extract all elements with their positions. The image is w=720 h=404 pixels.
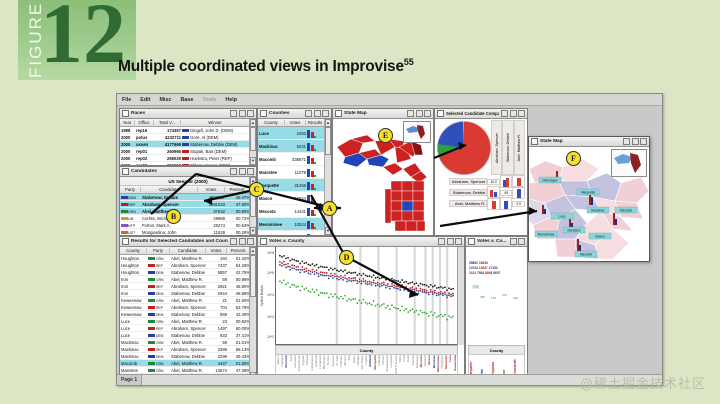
scatter2-green-point: 133 (491, 296, 496, 300)
figure-caption-text: Multiple coordinated views in Improvise (118, 58, 404, 75)
cell-county: Iron (120, 277, 147, 282)
races-col-office[interactable]: Office (135, 120, 154, 125)
matrix-col-stabenow[interactable]: Stabenow, Debbie (506, 133, 510, 162)
cell-party: DEM (147, 270, 170, 275)
data-label: 17152 (489, 266, 498, 270)
cell-votes: 11628 (198, 230, 225, 235)
party-swatch (121, 217, 128, 221)
cell-votes: 31266 (285, 183, 306, 188)
close-icon[interactable] (455, 238, 462, 245)
scroll-up-icon[interactable]: ▲ (325, 119, 331, 127)
cell-party: REP (147, 305, 170, 310)
candidates-col-candidate[interactable]: Candidate (141, 187, 198, 192)
cell-candidate: Stabenow, Debbie (170, 312, 206, 317)
cell-county: Mackinac (120, 340, 147, 345)
cell-candidate: Abraham, Spencer (170, 305, 206, 310)
cell-county: Mason (258, 196, 285, 201)
callout-badge-e: E (378, 128, 393, 143)
cell-votes: 29968 (198, 216, 225, 221)
callout-badge-d: D (339, 250, 354, 265)
panel-votes-v-county[interactable]: Votes v. County Spilled Ballots 10^6 10^… (257, 236, 465, 381)
cell-results-bars (306, 167, 325, 178)
menu-item-base[interactable]: Base (180, 97, 193, 103)
minimize-icon[interactable] (230, 238, 237, 245)
table-row[interactable]: REP Abraham, Spencer 1991033 47.90% (120, 201, 256, 208)
cell-votes: 1497 (206, 326, 227, 331)
window-menu-icon[interactable] (531, 138, 538, 145)
cell-party: DEM (147, 312, 170, 317)
candidate-share-pie-chart[interactable] (437, 121, 491, 175)
cell-party: GRN (147, 368, 170, 373)
races-col-votes[interactable]: Total V... (154, 120, 181, 125)
minimize-icon[interactable] (230, 168, 237, 175)
maximize-icon[interactable] (239, 168, 246, 175)
cell-county: Mackinac (258, 144, 285, 149)
cell-candidate: Stabenow, Debbie (170, 354, 206, 359)
cell-percent: 37.41% (227, 333, 250, 338)
maximize-icon[interactable] (510, 110, 517, 117)
party-swatch (148, 299, 155, 303)
cell-winner: Gore, Al (DEM) (190, 135, 218, 140)
cell-county: Luce (120, 319, 147, 324)
matrix-cell-bars (500, 197, 513, 210)
minimize-icon[interactable] (623, 138, 630, 145)
cell-percent: 42.75% (227, 270, 250, 275)
panel-results-body: County Party Candidate Votes Percent Hou… (120, 247, 256, 380)
scatter-plot-area[interactable]: Spilled Ballots 10^6 10^5 10^4 10^3 10^2 (258, 247, 464, 345)
table-row[interactable]: 2000 rep01 260965 Stupak, Bart (DEM) (120, 148, 256, 155)
party-swatch (148, 271, 155, 275)
cell-percent: 43.39% (227, 312, 250, 317)
panel-comparison-body: Abraham, Spencer Stabenow, Debbie Abel, … (435, 119, 527, 235)
cell-party: REP (147, 263, 170, 268)
cell-percent: 39.43% (227, 354, 250, 359)
cell-party: GRN (128, 210, 136, 214)
close-icon[interactable] (322, 110, 329, 117)
cell-percent: 01.60% (227, 298, 250, 303)
cell-year: 2000 (120, 142, 135, 147)
cell-votes: 933 (206, 333, 227, 338)
maximize-icon[interactable] (239, 238, 246, 245)
panel-races-titlebar[interactable]: Races (120, 109, 256, 119)
table-row[interactable]: Mackinac DEMStabenow, Debbie229839.43% (120, 353, 256, 360)
table-row[interactable]: Keweenaw REPAbraham, Spencer70453.78% (120, 304, 256, 311)
cell-votes: 269029 (154, 156, 181, 161)
panel-results[interactable]: Results for Selected Candidates and Coun… (119, 236, 257, 381)
cell-votes: 14431 (285, 209, 306, 214)
party-swatch (121, 196, 128, 200)
cell-county: Iron (120, 284, 147, 289)
table-row[interactable]: Macomb338871 (258, 153, 331, 166)
x-tick-label[interactable]: Luce (448, 355, 452, 362)
cell-votes: 262653 (154, 163, 181, 166)
cell-party: GRN (147, 256, 170, 261)
cell-winner: Stupak, Bart (DEM) (190, 149, 226, 154)
michigan-outline-icon (404, 122, 430, 142)
cell-percent: 47.38% (227, 368, 250, 373)
window-menu-icon[interactable] (335, 110, 342, 117)
cell-county: Houghton (120, 263, 147, 268)
panel-scatter-window-buttons[interactable] (438, 238, 462, 245)
minimize-icon[interactable] (407, 110, 414, 117)
close-icon[interactable] (518, 110, 525, 117)
cell-votes: 59 (206, 277, 227, 282)
table-row[interactable]: GRN Abel, Matthew R. 37542 00.90% (120, 208, 256, 215)
races-col-year[interactable]: Year (120, 120, 135, 125)
cell-candidate: Abraham, Spencer (170, 347, 206, 352)
table-row[interactable]: Houghton GRNAbel, Matthew R.19401.42% (120, 255, 256, 262)
panel-state-map-f-window-buttons[interactable] (623, 138, 647, 145)
scroll-up-icon[interactable]: ▲ (250, 119, 256, 127)
cell-percent: 53.78% (227, 305, 250, 310)
panel-counties-title: Counties (269, 111, 303, 116)
x-tick-label[interactable]: Macomb (284, 355, 288, 368)
results-col-party[interactable]: Party (147, 248, 170, 253)
table-row[interactable]: Luce REPAbraham, Spencer149760.00% (120, 325, 256, 332)
cell-votes: 4447 (206, 361, 227, 366)
close-icon[interactable] (247, 238, 254, 245)
cell-office: ussen (135, 142, 154, 147)
window-menu-icon[interactable] (122, 110, 129, 117)
cell-county: Macomb (120, 361, 147, 366)
window-menu-icon[interactable] (260, 238, 267, 245)
races-col-winner[interactable]: Winner (181, 120, 250, 125)
table-row[interactable]: Mecosta14431 (258, 205, 331, 218)
scatter2-green-label: 773 (472, 285, 479, 289)
table-row[interactable]: UST Mongiardino, John 11628 00.28% (120, 229, 256, 235)
cell-candidate: Stabenow, Debbie (141, 195, 198, 200)
maximize-icon[interactable] (632, 138, 639, 145)
cell-year: 1998 (120, 128, 135, 133)
x-tick-label[interactable]: Cass (406, 355, 410, 362)
counties-col-results[interactable]: Results (306, 120, 325, 125)
minimize-icon[interactable] (510, 238, 517, 245)
cell-votes: 23 (206, 319, 227, 324)
panel-scatter-titlebar[interactable]: Votes v. County (258, 237, 464, 247)
cell-party: REP (147, 347, 170, 352)
cell-office: rep16 (135, 128, 154, 133)
cell-results-bars (306, 219, 325, 230)
cell-winner: Hoekstra, Peter (REP) (190, 156, 232, 161)
close-icon[interactable] (424, 110, 431, 117)
panel-state-map-e-titlebar[interactable]: State Map (333, 109, 433, 119)
results-col-percent[interactable]: Percent (227, 248, 250, 253)
minimize-icon[interactable] (438, 238, 445, 245)
callout-badge-f: F (566, 151, 581, 166)
table-row[interactable]: DEM Stabenow, Debbie 1998017 49.47% (120, 194, 256, 201)
party-swatch (148, 306, 155, 310)
minimize-icon[interactable] (305, 110, 312, 117)
x-tick-label[interactable]: Berrien (326, 355, 330, 365)
window-menu-icon[interactable] (122, 168, 129, 175)
candidates-col-percent[interactable]: Percent (225, 187, 250, 192)
panel-votes-v-county-detail[interactable]: Votes v. Co... 2966216838170241408717152… (465, 236, 528, 381)
cell-percent: 49.47% (225, 195, 250, 200)
cell-candidate: Abel, Matthew R. (170, 277, 206, 282)
panel-state-map-f-body[interactable]: OntonagonMarquetteMackinacLuceMenomineeM… (529, 147, 649, 261)
panel-counties-window-buttons[interactable] (305, 110, 329, 117)
cell-party: GRN (147, 361, 170, 366)
scrollbar-thumb[interactable] (325, 127, 331, 155)
cell-candidate: Stabenow, Debbie (170, 333, 206, 338)
maximize-icon[interactable] (314, 110, 321, 117)
watermark: @稀土掘金技术社区 (580, 373, 706, 392)
table-row[interactable]: Houghton DEMStabenow, Debbie585742.75% (120, 269, 256, 276)
table-row[interactable]: 2000 potus 4232711 Gore, Al (DEM) (120, 134, 256, 141)
cell-party: GRN (147, 340, 170, 345)
candidates-race-subtitle: US Senator (2000) (120, 177, 256, 186)
party-swatch (121, 203, 128, 207)
matrix-row-label-stabenow: Stabenow, Debbie (449, 189, 487, 196)
cell-percent: 00.98% (227, 277, 250, 282)
table-row[interactable]: Luce GRNAbel, Matthew R.2300.92% (120, 318, 256, 325)
cell-votes: 260965 (154, 149, 181, 154)
panel-state-map-f-title: State Map (540, 139, 621, 144)
table-row[interactable]: Manistee GRNAbel, Matthew R.1367447.38% (120, 367, 256, 374)
svg-text:Menominee: Menominee (538, 232, 555, 236)
panel-state-map-e-window-buttons[interactable] (407, 110, 431, 117)
panel-results-window-buttons[interactable] (230, 238, 254, 245)
callout-badge-c: C (249, 182, 264, 197)
table-row[interactable]: Mackinac REPAbraham, Spencer338858.13% (120, 346, 256, 353)
window-menu-icon[interactable] (437, 110, 444, 117)
matrix-col-abraham[interactable]: Abraham, Spencer (495, 133, 499, 163)
cell-candidate: Stabenow, Debbie (170, 270, 206, 275)
panel-state-map-e-title: State Map (344, 111, 405, 116)
party-swatch (148, 334, 155, 338)
window-menu-icon[interactable] (122, 238, 129, 245)
cell-results-bars (306, 141, 325, 152)
cell-party: GRN (147, 277, 170, 282)
table-row[interactable]: Houghton REPAbraham, Spencer743754.28% (120, 262, 256, 269)
results-col-candidate[interactable]: Candidate (170, 248, 206, 253)
panel-candidates-titlebar[interactable]: Candidates (120, 167, 256, 177)
candidates-col-votes[interactable]: Votes (198, 187, 225, 192)
panel-results-titlebar[interactable]: Results for Selected Candidates and Coun… (120, 237, 256, 247)
panel-scatter2-title: Votes v. Co... (477, 239, 508, 244)
data-label: 16838 (479, 261, 488, 265)
cell-votes: 36719 (285, 235, 306, 236)
party-swatch (121, 210, 128, 214)
cell-party: UST (128, 231, 135, 235)
table-row[interactable]: Menominee10524 (258, 218, 331, 231)
panel-comparison-title: Selected Candidate Comparison (446, 111, 499, 116)
table-row[interactable]: Iron DEMStabenow, Debbie294448.88% (120, 290, 256, 297)
cell-votes: 5231 (285, 144, 306, 149)
svg-text:Luce: Luce (559, 214, 566, 218)
scatter2-plot-area[interactable]: 2966216838170241408717152241379348848660… (466, 247, 527, 345)
michigan-outline-icon (612, 150, 646, 176)
party-swatch (148, 369, 155, 373)
cell-county: Mackinac (120, 354, 147, 359)
table-row[interactable]: 2000 rep03 262653 Ehlers, Vernon (REP) (120, 162, 256, 165)
cell-votes: 194 (206, 256, 227, 261)
x-tick-label[interactable]: Mason (427, 355, 431, 365)
cell-year: 2000 (120, 156, 135, 161)
matrix-row[interactable]: Abel, Matthew R. 0.9 (449, 198, 525, 209)
panel-results-title: Results for Selected Candidates and Coun… (131, 239, 228, 244)
cell-votes: 7437 (206, 263, 227, 268)
panel-state-map-f-titlebar[interactable]: State Map (529, 137, 649, 147)
table-row[interactable]: Midland36719 (258, 231, 331, 235)
table-row[interactable]: Macomb GRNAbel, Matthew R.444701.50% (120, 360, 256, 367)
cell-office: rep01 (135, 149, 154, 154)
table-row[interactable]: Marquette31266 (258, 179, 331, 192)
matrix-cell-bars (487, 197, 500, 210)
close-icon[interactable] (518, 238, 525, 245)
cell-votes: 1998017 (198, 195, 225, 200)
panel-comparison-window-buttons[interactable] (501, 110, 525, 117)
panel-races-title: Races (131, 111, 228, 116)
data-label: 6607 (493, 271, 500, 275)
cell-percent: 60.00% (227, 326, 250, 331)
svg-text:Mackinac: Mackinac (591, 208, 605, 212)
scroll-down-icon[interactable]: ▼ (250, 157, 256, 165)
results-col-county[interactable]: County (120, 248, 147, 253)
cell-winner: Ehlers, Vernon (REP) (190, 163, 230, 166)
menu-item-file[interactable]: File (122, 97, 131, 103)
panel-scatter-title: Votes v. County (269, 239, 436, 244)
window-menu-icon[interactable] (468, 238, 475, 245)
map-overview-inset[interactable] (403, 121, 431, 143)
x-tick-label[interactable]: Ottawa (305, 355, 309, 365)
data-label: 2413 (469, 271, 476, 275)
scatter-canvas[interactable] (275, 247, 457, 345)
page-title: Multiple coordinated views in Improvise5… (118, 57, 414, 76)
cell-percent: 01.01% (227, 340, 250, 345)
cell-votes: 2944 (206, 291, 227, 296)
cell-candidate: Abel, Matthew R. (170, 340, 206, 345)
scatter-y-axis-title: Spilled Ballots (258, 247, 266, 345)
panel-state-map-f[interactable]: State Map (528, 136, 650, 262)
cell-year: 2000 (120, 149, 135, 154)
table-row[interactable]: Keweenaw DEMStabenow, Debbie56943.39% (120, 311, 256, 318)
map-overview-inset[interactable] (611, 149, 647, 177)
counties-col-county[interactable]: County (258, 120, 285, 125)
x-tick-label[interactable]: Keweenaw (453, 355, 457, 371)
party-swatch (148, 320, 155, 324)
scatter-vertical-scrollbar[interactable] (457, 247, 464, 345)
counties-col-votes[interactable]: Votes (285, 120, 306, 125)
cell-percent: 01.50% (227, 361, 250, 366)
close-icon[interactable] (247, 168, 254, 175)
cell-party: NTP (128, 224, 135, 228)
table-row[interactable]: Iron GRNAbel, Matthew R.5900.98% (120, 276, 256, 283)
table-row[interactable]: Mackinac5231 (258, 140, 331, 153)
cell-votes: 569 (206, 312, 227, 317)
matrix-cell-bars (512, 186, 525, 199)
party-swatch (148, 285, 155, 289)
scrollbar-thumb[interactable] (250, 255, 256, 297)
table-row[interactable]: Iron REPAbraham, Spencer292148.90% (120, 283, 256, 290)
panel-selected-candidate-comparison[interactable]: Selected Candidate Comparison (434, 108, 528, 236)
scroll-down-icon[interactable]: ▼ (250, 227, 256, 235)
table-row[interactable]: Luce2493 (258, 127, 331, 140)
panel-counties-titlebar[interactable]: Counties (258, 109, 331, 119)
table-row[interactable]: Luce DEMStabenow, Debbie93337.41% (120, 332, 256, 339)
party-swatch (121, 231, 128, 235)
party-swatch (182, 150, 189, 154)
counties-vertical-scrollbar[interactable]: ▲ ▼ (324, 119, 331, 235)
results-grid: Houghton GRNAbel, Matthew R.19401.42%Hou… (120, 255, 256, 380)
table-row[interactable]: Manistee11078 (258, 166, 331, 179)
party-swatch (182, 157, 189, 161)
cell-county: Houghton (120, 256, 147, 261)
menu-item-misc[interactable]: Misc (159, 97, 171, 103)
panel-scatter2-window-buttons[interactable] (510, 238, 526, 245)
races-grid: 1998 rep16 174367 Dingell, John D. (DEM)… (120, 127, 256, 165)
menu-item-edit[interactable]: Edit (140, 97, 150, 103)
comparison-matrix-rows: Abraham, Spencer 10.0 Stabenow, Debbie (449, 176, 525, 209)
cell-party: GRN (147, 319, 170, 324)
cell-county: Luce (258, 131, 285, 136)
races-column-headers: Year Office Total V... Winner (120, 119, 256, 127)
cell-candidate: Mongiardino, John (141, 230, 198, 235)
close-icon[interactable] (247, 110, 254, 117)
party-swatch (148, 348, 155, 352)
scroll-down-icon[interactable]: ▼ (325, 227, 331, 235)
results-col-votes[interactable]: Votes (206, 248, 227, 253)
table-row[interactable]: Mason12844 (258, 192, 331, 205)
data-label: 7934 (477, 271, 484, 275)
cell-county: Macomb (258, 157, 285, 162)
cell-votes: 704 (206, 305, 227, 310)
cell-percent: 54.28% (227, 263, 250, 268)
panel-races-window-buttons[interactable] (230, 110, 254, 117)
cell-office: potus (135, 135, 154, 140)
panel-races[interactable]: Races Year Office Total V... Winner 1998… (119, 108, 257, 166)
maximize-icon[interactable] (416, 110, 423, 117)
table-row[interactable]: 1998 rep16 174367 Dingell, John D. (DEM) (120, 127, 256, 134)
panel-candidates-window-buttons[interactable] (230, 168, 254, 175)
cell-candidate: Abel, Matthew R. (170, 256, 206, 261)
table-row[interactable]: NTP Forton, Mark A. 26274 00.63% (120, 222, 256, 229)
cell-county: Menominee (258, 222, 285, 227)
table-row[interactable]: 2000 ussen 4177669 Stabenow, Debbie (DEM… (120, 141, 256, 148)
close-icon[interactable] (640, 138, 647, 145)
scatter2-data-labels: 2966216838170241408717152241379348848660… (469, 261, 525, 276)
races-vertical-scrollbar[interactable]: ▲ ▼ (249, 119, 256, 165)
panel-scatter2-titlebar[interactable]: Votes v. Co... (466, 237, 527, 247)
cell-year: 2000 (120, 135, 135, 140)
scrollbar-thumb[interactable] (250, 127, 256, 151)
cell-county: Iron (120, 291, 147, 296)
window-menu-icon[interactable] (260, 110, 267, 117)
table-row[interactable]: 2000 rep02 269029 Hoekstra, Peter (REP) (120, 155, 256, 162)
svg-text:Manistee: Manistee (568, 228, 581, 232)
cell-county: Luce (120, 326, 147, 331)
panel-comparison-titlebar[interactable]: Selected Candidate Comparison (435, 109, 527, 119)
results-vertical-scrollbar[interactable]: ▲ ▼ (249, 247, 256, 380)
menu-item-help[interactable]: Help (225, 97, 237, 103)
minimize-icon[interactable] (501, 110, 508, 117)
svg-text:Ontonagon: Ontonagon (542, 178, 558, 182)
table-row[interactable]: LIB Corliss, Michael R. 29968 00.72% (120, 215, 256, 222)
table-row[interactable]: Keweenaw GRNAbel, Matthew R.2101.60% (120, 297, 256, 304)
candidates-col-party[interactable]: Party (120, 187, 141, 192)
maximize-icon[interactable] (447, 238, 454, 245)
table-row[interactable]: Mackinac GRNAbel, Matthew R.5901.01% (120, 339, 256, 346)
cell-percent: 00.28% (225, 230, 250, 235)
panel-counties[interactable]: Counties County Votes Results Luce2493Ma… (257, 108, 332, 236)
scroll-up-icon[interactable]: ▲ (250, 247, 256, 255)
maximize-icon[interactable] (239, 110, 246, 117)
panel-candidates[interactable]: Candidates US Senator (2000) Party Candi… (119, 166, 257, 236)
party-swatch (182, 164, 189, 165)
matrix-col-abel[interactable]: Abel, Matthew R. (517, 134, 521, 161)
minimize-icon[interactable] (230, 110, 237, 117)
cell-candidate: Stabenow, Debbie (170, 291, 206, 296)
